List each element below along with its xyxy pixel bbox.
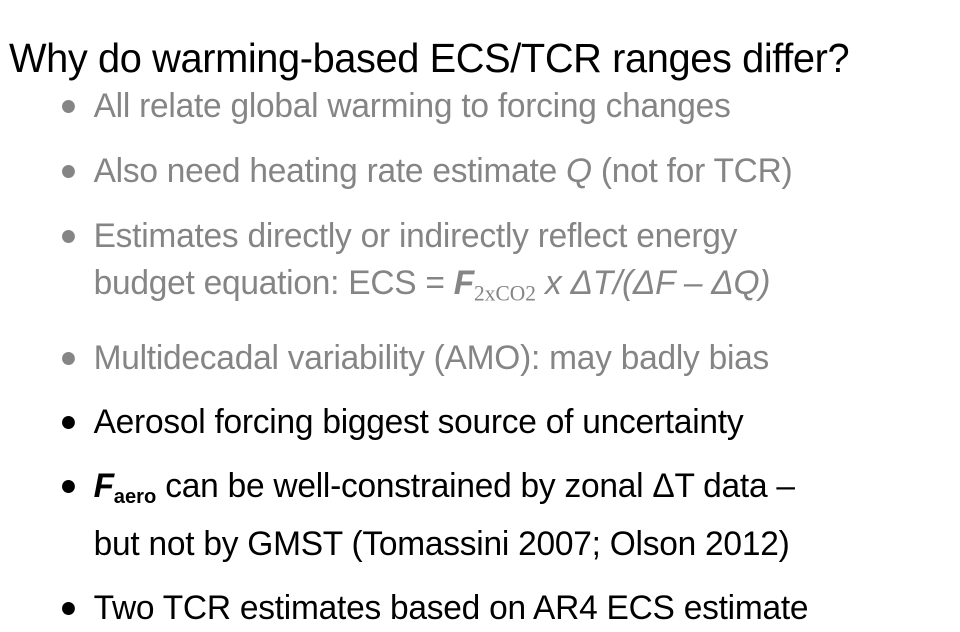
- formula-remainder: x ΔT/(ΔF – ΔQ): [536, 264, 770, 302]
- list-item-label: Multidecadal variability (AMO): may badl…: [94, 339, 769, 377]
- spacer: [0, 318, 960, 335]
- list-item-label: can be well-constrained by zonal ΔT data…: [156, 467, 795, 505]
- bullet-dot-icon: [62, 230, 75, 243]
- bullet-dot-icon: [62, 602, 75, 615]
- symbol-f-aero: F: [94, 467, 114, 505]
- list-item[interactable]: Multidecadal variability (AMO): may badl…: [0, 335, 946, 382]
- spacer: [0, 568, 960, 585]
- bullet-dot-icon: [62, 100, 75, 113]
- slide-canvas: Why do warming-based ECS/TCR ranges diff…: [0, 0, 960, 628]
- bullet-dot-icon: [62, 480, 75, 493]
- bullet-list: All relate global warming to forcing cha…: [0, 83, 960, 632]
- list-item-label-line2: budget equation: ECS =: [94, 264, 454, 302]
- list-item-label: Also need heating rate estimate: [94, 152, 566, 190]
- list-item[interactable]: All relate global warming to forcing cha…: [0, 83, 946, 130]
- bullet-dot-icon: [62, 352, 75, 365]
- list-item-label: All relate global warming to forcing cha…: [94, 87, 731, 125]
- list-item-label: Aerosol forcing biggest source of uncert…: [94, 403, 744, 441]
- list-item[interactable]: Estimates directly or indirectly reflect…: [0, 213, 946, 318]
- spacer: [0, 446, 960, 463]
- list-item-label: Estimates directly or indirectly reflect…: [94, 217, 738, 255]
- list-item[interactable]: Faero can be well-constrained by zonal Δ…: [0, 463, 946, 568]
- list-item-label: Two TCR estimates based on AR4 ECS estim…: [94, 589, 809, 627]
- spacer: [0, 195, 960, 213]
- spacer: [0, 130, 960, 148]
- subscript-2xco2: 2xCO2: [474, 282, 536, 306]
- list-item-label-line2: but not by GMST (Tomassini 2007; Olson 2…: [94, 525, 790, 563]
- symbol-q: Q: [566, 152, 592, 190]
- symbol-f: F: [454, 264, 474, 302]
- list-item[interactable]: Aerosol forcing biggest source of uncert…: [0, 399, 946, 446]
- page-title: Why do warming-based ECS/TCR ranges diff…: [9, 33, 927, 83]
- subscript-aero: aero: [114, 486, 156, 508]
- list-item[interactable]: Two TCR estimates based on AR4 ECS estim…: [0, 585, 946, 632]
- bullet-dot-icon: [62, 165, 75, 178]
- list-item[interactable]: Also need heating rate estimate Q (not f…: [0, 148, 946, 195]
- spacer: [0, 382, 960, 399]
- list-item-label-suffix: (not for TCR): [592, 152, 793, 190]
- bullet-dot-icon: [62, 416, 75, 429]
